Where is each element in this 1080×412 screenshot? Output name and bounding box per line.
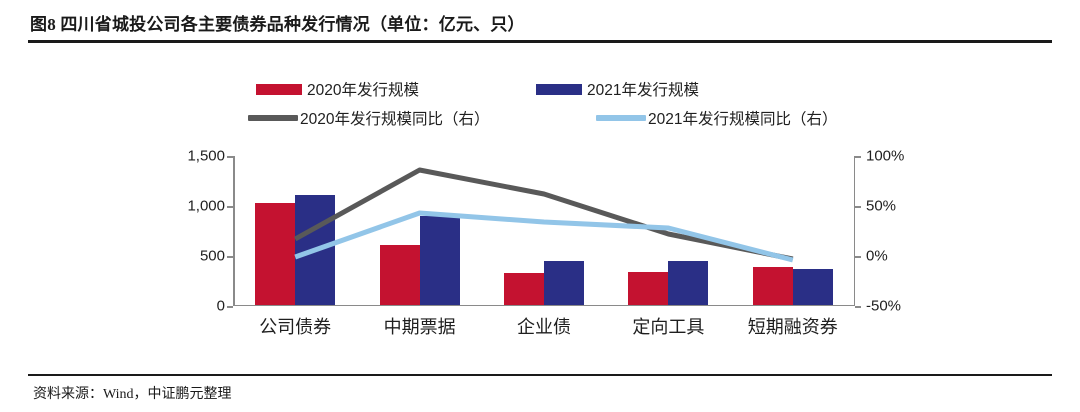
- x-axis-category-label: 定向工具: [632, 313, 704, 339]
- y-axis-right-tick-label: 50%: [866, 198, 896, 215]
- legend-label: 2020年发行规模同比（右）: [300, 107, 489, 129]
- y-axis-right-tick-label: 0%: [866, 248, 888, 265]
- legend-label: 2021年发行规模同比（右）: [648, 107, 837, 129]
- x-axis-category-label: 企业债: [517, 313, 571, 339]
- legend-label: 2021年发行规模: [587, 78, 699, 100]
- x-axis-category-label: 公司债券: [259, 313, 331, 339]
- legend-swatch-lightblue-line-icon: [596, 115, 646, 121]
- legend-item-2021-scale[interactable]: 2021年发行规模: [536, 78, 699, 100]
- y-axis-left-tick: [227, 306, 233, 308]
- x-axis-category-label: 短期融资券: [748, 313, 838, 339]
- y-axis-left-tick-label: 1,500: [187, 148, 225, 165]
- chart-legend: 2020年发行规模 2021年发行规模 2020年发行规模同比（右） 2021年…: [248, 78, 848, 136]
- figure-container: 图8 四川省城投公司各主要债券品种发行情况（单位：亿元、只） 2020年发行规模…: [0, 0, 1080, 412]
- line-2020-yoy: [295, 170, 793, 259]
- y-axis-right-tick-label: 100%: [866, 148, 904, 165]
- title-divider-top: [28, 40, 1052, 43]
- y-axis-left-tick-label: 0: [217, 298, 225, 315]
- y-axis-right-tick: [855, 156, 861, 158]
- y-axis-right-labels: -50%0%50%100%: [866, 156, 946, 306]
- line-2021-yoy: [295, 213, 793, 260]
- y-axis-right-tick: [855, 306, 861, 308]
- y-axis-right-tick: [855, 256, 861, 258]
- y-axis-right-tick-label: -50%: [866, 298, 901, 315]
- legend-item-2021-yoy[interactable]: 2021年发行规模同比（右）: [596, 107, 837, 129]
- y-axis-left-labels: 05001,0001,500: [155, 156, 225, 306]
- legend-swatch-red-icon: [256, 84, 302, 95]
- figure-title: 图8 四川省城投公司各主要债券品种发行情况（单位：亿元、只）: [30, 10, 525, 35]
- legend-item-2020-yoy[interactable]: 2020年发行规模同比（右）: [248, 107, 489, 129]
- x-axis-category-label: 中期票据: [384, 313, 456, 339]
- y-axis-right-tick: [855, 206, 861, 208]
- source-note: 资料来源：Wind，中证鹏元整理: [33, 383, 232, 403]
- legend-swatch-gray-line-icon: [248, 115, 298, 121]
- footer-divider: [28, 374, 1052, 376]
- legend-label: 2020年发行规模: [307, 78, 419, 100]
- plot-area: [233, 156, 855, 306]
- legend-swatch-navy-icon: [536, 84, 582, 95]
- legend-item-2020-scale[interactable]: 2020年发行规模: [256, 78, 419, 100]
- x-axis-category-labels: 公司债券中期票据企业债定向工具短期融资券: [233, 313, 855, 343]
- y-axis-left-tick-label: 500: [200, 248, 225, 265]
- line-series-layer: [233, 156, 855, 306]
- y-axis-left-tick-label: 1,000: [187, 198, 225, 215]
